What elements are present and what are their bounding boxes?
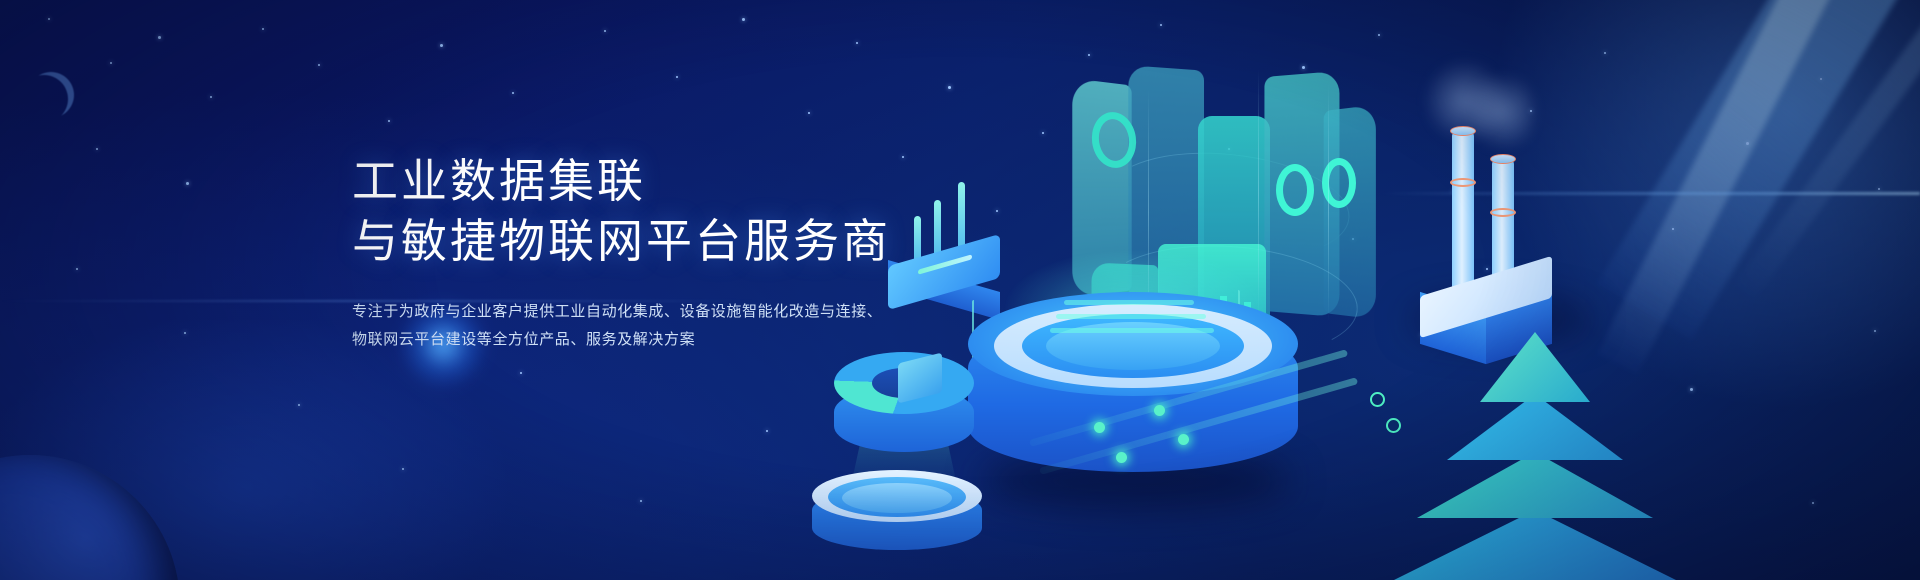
pyramid-step — [1417, 452, 1653, 518]
pyramid-step — [1480, 332, 1590, 402]
platform-disc — [968, 292, 1298, 482]
data-node — [1154, 405, 1165, 416]
tower-highlight — [1258, 68, 1259, 318]
disc-stripe — [1064, 300, 1194, 305]
disc-stripe — [1056, 314, 1206, 319]
hero-subtitle: 专注于为政府与企业客户提供工业自动化集成、设备设施智能化改造与连接、 物联网云平… — [352, 298, 972, 355]
mini-disc-ring — [842, 483, 952, 513]
headline-line-2: 与敏捷物联网平台服务商 — [352, 212, 972, 272]
tower-highlight — [1328, 82, 1329, 322]
disc-stripe — [1050, 328, 1214, 333]
pyramid-step — [1447, 394, 1623, 460]
data-node — [1178, 434, 1189, 445]
smokestack-cap — [1490, 154, 1516, 164]
smokestack — [1452, 132, 1474, 300]
hero-banner: 工业数据集联 与敏捷物联网平台服务商 专注于为政府与企业客户提供工业自动化集成、… — [0, 0, 1920, 580]
smokestack-cap — [1450, 126, 1476, 136]
smoke-plume — [1472, 66, 1534, 158]
data-port — [1386, 418, 1401, 433]
headline-line-1: 工业数据集联 — [352, 155, 646, 207]
data-node — [1094, 422, 1105, 433]
ring-icon — [1276, 164, 1314, 216]
smokestack-factory-icon — [1420, 60, 1610, 320]
data-node — [1116, 452, 1127, 463]
iot-illustration — [940, 0, 1740, 580]
smokestack-band — [1490, 208, 1516, 217]
pie-chart-cylinder-icon — [830, 352, 980, 482]
pyramid-step — [1390, 510, 1680, 580]
subtitle-line-2: 物联网云平台建设等全方位产品、服务及解决方案 — [352, 326, 972, 355]
hero-copy: 工业数据集联 与敏捷物联网平台服务商 专注于为政府与企业客户提供工业自动化集成、… — [352, 152, 972, 355]
smokestack-band — [1450, 178, 1476, 187]
stepped-pyramid-icon — [1410, 332, 1660, 580]
page-title: 工业数据集联 与敏捷物联网平台服务商 — [352, 152, 972, 272]
subtitle-line-1: 专注于为政府与企业客户提供工业自动化集成、设备设施智能化改造与连接、 — [352, 298, 972, 327]
mini-disc — [812, 470, 982, 556]
data-port — [1370, 392, 1385, 407]
